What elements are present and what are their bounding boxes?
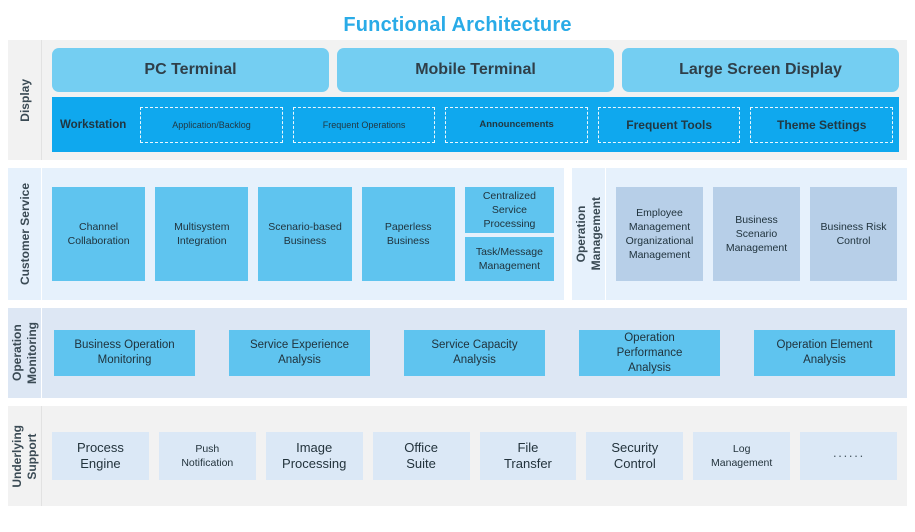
card-channel-collaboration[interactable]: Channel Collaboration (52, 187, 145, 281)
card-multisystem-integration[interactable]: Multisystem Integration (155, 187, 248, 281)
card-business-risk-control[interactable]: Business Risk Control (810, 187, 897, 281)
display-layer-label-text: Display (18, 79, 32, 122)
customer-service-layer-label-text: Customer Service (18, 183, 32, 285)
workstation-item-theme-settings[interactable]: Theme Settings (750, 107, 893, 143)
card-centralized-service-processing[interactable]: Centralized Service Processing (465, 187, 554, 233)
terminal-card-mobile[interactable]: Mobile Terminal (337, 48, 614, 92)
customer-service-layer-label: Customer Service (8, 168, 42, 300)
terminal-card-pc[interactable]: PC Terminal (52, 48, 329, 92)
operation-monitoring-cards: Business Operation Monitoring Service Ex… (42, 308, 907, 398)
card-service-capacity-analysis[interactable]: Service Capacity Analysis (404, 330, 545, 376)
operation-management-cards: Employee Management Organizational Manag… (606, 168, 907, 300)
workstation-item-application-backlog[interactable]: Application/Backlog (140, 107, 283, 143)
card-file-transfer[interactable]: File Transfer (480, 432, 577, 480)
card-paperless-business[interactable]: Paperless Business (362, 187, 455, 281)
underlying-support-layer: Underlying Support Process Engine Push N… (8, 406, 907, 506)
card-task-message-management[interactable]: Task/Message Management (465, 237, 554, 281)
card-group-service-processing: Centralized Service Processing Task/Mess… (465, 187, 554, 281)
terminal-row: PC Terminal Mobile Terminal Large Screen… (52, 48, 899, 92)
display-layer: Display PC Terminal Mobile Terminal Larg… (8, 40, 907, 160)
workstation-label: Workstation (60, 119, 130, 131)
workstation-item-frequent-operations[interactable]: Frequent Operations (293, 107, 436, 143)
workstation-item-announcements[interactable]: Announcements (445, 107, 588, 143)
display-layer-label: Display (8, 40, 42, 160)
card-operation-element-analysis[interactable]: Operation Element Analysis (754, 330, 895, 376)
operation-management-layer: Operation Management Employee Management… (572, 168, 907, 300)
operation-monitoring-layer: Operation Monitoring Business Operation … (8, 308, 907, 398)
operation-management-layer-label-text: Operation Management (574, 197, 604, 270)
underlying-support-cards: Process Engine Push Notification Image P… (42, 406, 907, 506)
card-office-suite[interactable]: Office Suite (373, 432, 470, 480)
customer-service-cards: Channel Collaboration Multisystem Integr… (42, 168, 564, 300)
operation-management-layer-label: Operation Management (572, 168, 606, 300)
card-security-control[interactable]: Security Control (586, 432, 683, 480)
operation-monitoring-layer-label-text: Operation Monitoring (10, 322, 40, 384)
underlying-support-layer-label: Underlying Support (8, 406, 42, 506)
card-log-management[interactable]: Log Management (693, 432, 790, 480)
card-push-notification[interactable]: Push Notification (159, 432, 256, 480)
card-employee-organizational-management[interactable]: Employee Management Organizational Manag… (616, 187, 703, 281)
display-layer-content: PC Terminal Mobile Terminal Large Screen… (42, 40, 907, 160)
card-image-processing[interactable]: Image Processing (266, 432, 363, 480)
card-business-scenario-management[interactable]: Business Scenario Management (713, 187, 800, 281)
service-row: Customer Service Channel Collaboration M… (8, 168, 907, 300)
page-title: Functional Architecture (0, 0, 915, 40)
card-business-operation-monitoring[interactable]: Business Operation Monitoring (54, 330, 195, 376)
card-scenario-based-business[interactable]: Scenario-based Business (258, 187, 351, 281)
card-process-engine[interactable]: Process Engine (52, 432, 149, 480)
terminal-card-large-screen[interactable]: Large Screen Display (622, 48, 899, 92)
card-more-ellipsis: ······ (800, 432, 897, 480)
customer-service-layer: Customer Service Channel Collaboration M… (8, 168, 564, 300)
underlying-support-layer-label-text: Underlying Support (10, 425, 40, 488)
operation-monitoring-layer-label: Operation Monitoring (8, 308, 42, 398)
workstation-row: Workstation Application/Backlog Frequent… (52, 97, 899, 152)
card-service-experience-analysis[interactable]: Service Experience Analysis (229, 330, 370, 376)
workstation-item-frequent-tools[interactable]: Frequent Tools (598, 107, 741, 143)
card-operation-performance-analysis[interactable]: Operation Performance Analysis (579, 330, 720, 376)
